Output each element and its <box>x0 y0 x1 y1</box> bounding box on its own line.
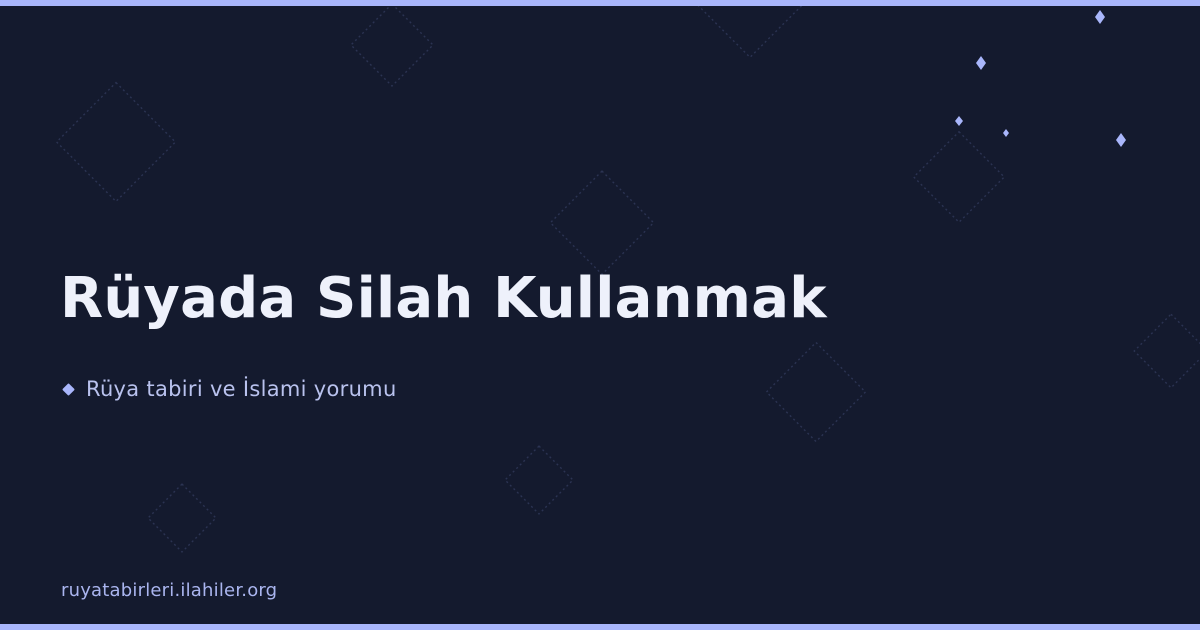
subtitle-row: Rüya tabiri ve İslami yorumu <box>64 377 397 401</box>
diamond-bullet-icon <box>62 383 75 396</box>
diamond-outline-icon <box>1134 314 1200 388</box>
card-content: Rüyada Silah Kullanmak Rüya tabiri ve İs… <box>60 0 1080 630</box>
site-url: ruyatabirleri.ilahiler.org <box>61 580 277 601</box>
page-title: Rüyada Silah Kullanmak <box>60 268 827 330</box>
four-point-star-icon <box>1116 133 1126 147</box>
social-share-card: Rüyada Silah Kullanmak Rüya tabiri ve İs… <box>0 0 1200 630</box>
bottom-accent-stripe <box>0 624 1200 630</box>
page-subtitle: Rüya tabiri ve İslami yorumu <box>86 377 397 401</box>
top-accent-stripe <box>0 0 1200 6</box>
four-point-star-icon <box>1095 10 1105 24</box>
